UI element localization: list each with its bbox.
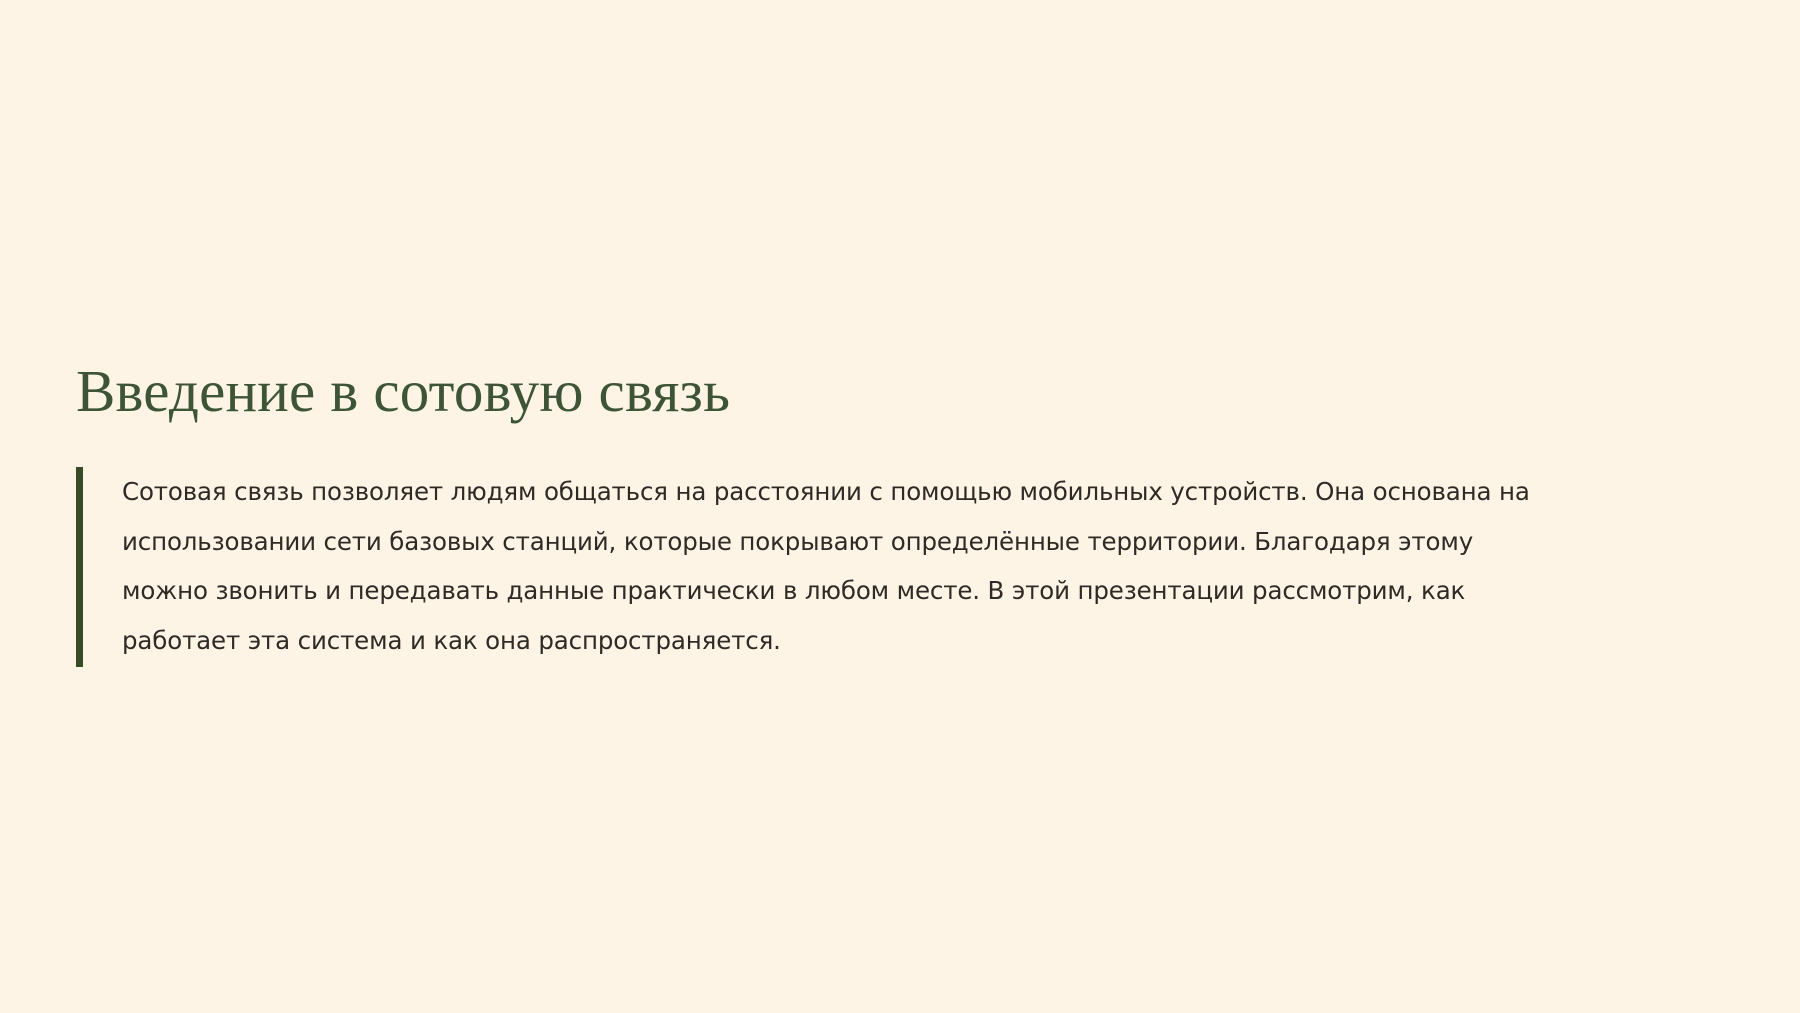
accent-bar: [76, 467, 83, 667]
body-quote-block: Сотовая связь позволяет людям общаться н…: [76, 467, 1696, 667]
slide-body-text: Сотовая связь позволяет людям общаться н…: [83, 467, 1542, 667]
presentation-slide: Введение в сотовую связь Сотовая связь п…: [0, 0, 1800, 1013]
slide-title: Введение в сотовую связь: [76, 355, 1716, 427]
